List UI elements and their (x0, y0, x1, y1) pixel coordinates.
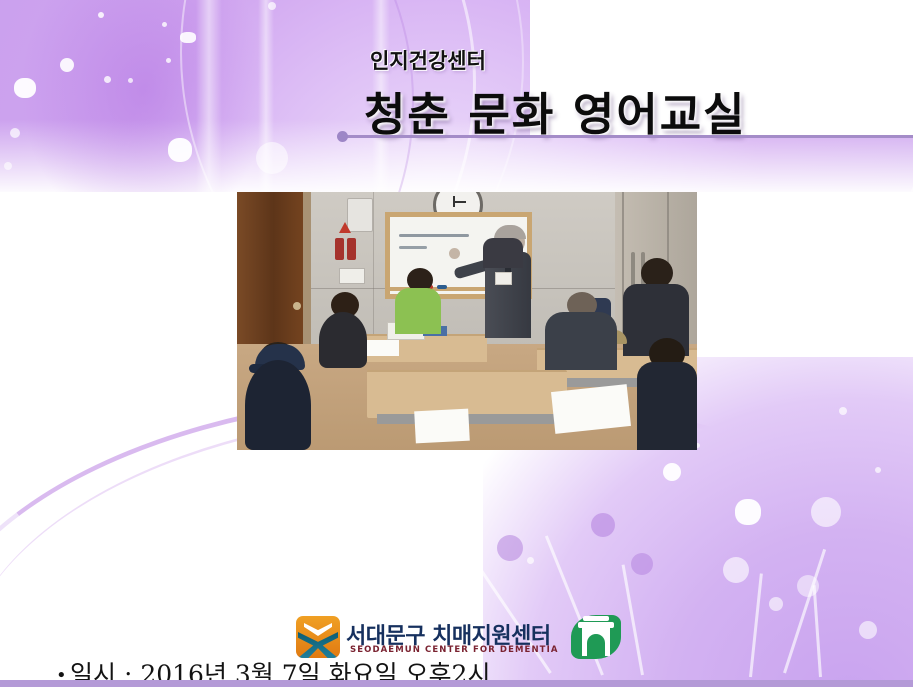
stem-ball-decoration (797, 575, 819, 597)
photo-student (545, 312, 617, 370)
gate-roof-shape (583, 616, 609, 621)
poster-slide: 인지건강센터 청춘 문화 영어교실 (0, 0, 913, 687)
photo-light-switch (339, 268, 365, 284)
header-glow (20, 0, 270, 192)
stem-decoration (813, 585, 822, 677)
stem-ball-decoration (811, 497, 841, 527)
bottom-accent-band (0, 680, 913, 687)
bokeh-dot (875, 467, 881, 473)
gate-roof-shape (578, 622, 614, 628)
title-divider-dot (337, 131, 348, 142)
bokeh-dot (769, 597, 783, 611)
photo-whiteboard-writing (399, 246, 427, 249)
header-light-stripe-1 (196, 0, 222, 192)
bokeh-dot (663, 463, 681, 481)
logo-name-en: SEODAEMUN CENTER FOR DEMENTIA (350, 645, 559, 655)
stem-decoration (749, 573, 763, 677)
person-mark-icon (296, 616, 340, 658)
photo-whiteboard-writing (399, 234, 469, 237)
photo-door-frame (303, 192, 311, 362)
bokeh-dot (527, 557, 534, 564)
photo-instructor-nametag (495, 272, 512, 285)
photo-student (637, 362, 697, 450)
bokeh-dot (10, 128, 20, 138)
header-subtitle: 인지건강센터 (370, 45, 486, 75)
bokeh-dot (859, 621, 877, 639)
stem-decoration (783, 549, 826, 674)
photo-marker (437, 285, 447, 289)
title-divider (341, 135, 913, 138)
english-class-photo (237, 192, 697, 450)
photo-extinguisher (335, 238, 344, 260)
header-light-stripe-2 (258, 0, 274, 192)
photo-paper (551, 384, 631, 434)
photo-clock-hand (454, 201, 466, 203)
photo-student (395, 288, 441, 334)
header-band: 인지건강센터 청춘 문화 영어교실 (0, 0, 913, 192)
photo-wall-panel (347, 198, 373, 232)
photo-paper (365, 340, 399, 356)
bokeh-dot (4, 162, 12, 170)
photo-door-knob (293, 302, 301, 310)
stem-ball-decoration (497, 535, 523, 561)
photo-instructor-hand (449, 248, 460, 259)
bokeh-dot (735, 499, 761, 525)
bokeh-dot (839, 407, 847, 415)
independence-gate-icon (570, 612, 622, 662)
photo-extinguisher (347, 238, 356, 260)
photo-paper (414, 409, 470, 444)
page-title: 청춘 문화 영어교실 (364, 78, 747, 143)
photo-door (237, 192, 303, 348)
photo-student (245, 360, 311, 450)
stem-ball-decoration (631, 553, 653, 575)
stem-ball-decoration (591, 513, 615, 537)
organization-logo: 서대문구 치매지원센터 SEODAEMUN CENTER FOR DEMENTI… (296, 612, 626, 664)
gate-arch-shape (587, 634, 605, 656)
photo-student (319, 312, 367, 368)
bird-shape-icon (304, 623, 332, 636)
photo-student (483, 238, 523, 268)
stem-ball-decoration (723, 557, 749, 583)
